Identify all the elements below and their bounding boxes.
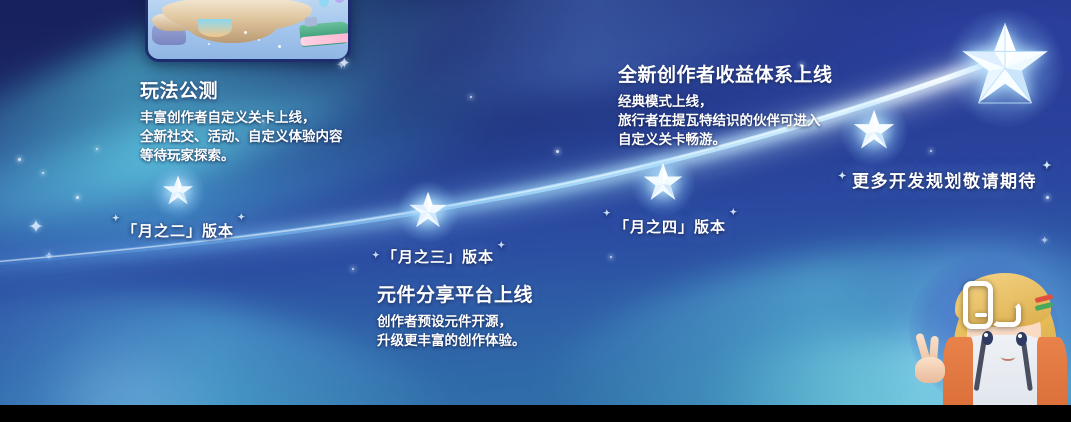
twinkle-dot — [76, 196, 79, 199]
milestone-text-3: 全新创作者收益体系上线 经典模式上线， 旅行者在提瓦特结识的伙伴可进入 自定义关… — [618, 60, 878, 149]
sparkle-tick-icon: ✦ — [1042, 159, 1053, 172]
gameplay-thumbnail-card[interactable]: ★ — [145, 0, 351, 62]
sparkle-tick-icon: ✦ — [603, 208, 612, 219]
version-label-text: 「月之三」版本 — [382, 250, 494, 266]
version-label-text: 「月之四」版本 — [614, 220, 726, 236]
screen-share-icon[interactable] — [963, 281, 1025, 343]
timeline-node-star-2 — [407, 191, 449, 233]
sparkle-dot — [244, 31, 247, 34]
milestone-line: 经典模式上线， — [618, 92, 878, 111]
timeline-node-star-final — [959, 22, 1051, 114]
sparkle-tick-icon: ✦ — [112, 213, 121, 224]
milestone-text-2: 元件分享平台上线 创作者预设元件开源， 升级更丰富的创作体验。 — [377, 280, 657, 350]
twinkle-dot — [610, 256, 612, 258]
sparkle-tick-icon: ✦ — [237, 212, 246, 223]
sparkle-dot — [208, 43, 210, 45]
milestone-line: 丰富创作者自定义关卡上线， — [140, 108, 370, 127]
balloon-shape — [319, 0, 329, 7]
milestone-title-3: 全新创作者收益体系上线 — [618, 60, 878, 87]
milestone-line: 升级更丰富的创作体验。 — [377, 331, 657, 350]
milestone-title-2: 元件分享平台上线 — [377, 280, 657, 307]
version-label-3: ✦ 「月之四」版本 ✦ — [614, 216, 726, 237]
decorative-star-icon: ✦ — [44, 250, 54, 262]
milestone-line: 全新社交、活动、自定义体验内容 — [140, 127, 370, 146]
twinkle-dot — [1046, 196, 1049, 199]
character-portrait — [886, 245, 1071, 405]
twinkle-dot — [18, 158, 21, 161]
palm — [915, 357, 945, 383]
balloon-shape — [334, 0, 345, 3]
twinkle-dot — [470, 96, 472, 98]
version-label-text: 「月之二」版本 — [122, 224, 234, 240]
letterbox-bar — [0, 405, 1071, 422]
decorative-star-icon: ✦ — [338, 56, 351, 71]
timeline-node-star-1 — [161, 175, 195, 209]
twinkle-dot — [930, 150, 932, 152]
twinkle-dot — [352, 268, 354, 270]
twinkle-dot — [556, 150, 559, 153]
floating-island-main — [162, 0, 312, 31]
milestone-line: 等待玩家探索。 — [140, 146, 370, 165]
twinkle-dot — [42, 172, 44, 174]
thumbnail-artwork: ★ — [148, 0, 348, 59]
milestone-line: 自定义关卡畅游。 — [618, 130, 878, 149]
sparkle-tick-icon: ✦ — [372, 250, 381, 261]
sparkle-tick-icon: ✦ — [497, 240, 506, 251]
future-plans-label: ✦ 更多开发规划敬请期待 ✦ — [852, 167, 1037, 192]
milestone-title-1: 玩法公测 — [140, 76, 370, 103]
sparkle-tick-icon: ✦ — [838, 171, 848, 182]
boat-object — [299, 21, 351, 47]
version-label-1: ✦ 「月之二」版本 ✦ — [122, 220, 234, 241]
decorative-star-icon: ✦ — [28, 218, 44, 237]
screen-share-icon-primary — [963, 281, 993, 329]
milestone-line: 创作者预设元件开源， — [377, 312, 657, 331]
screen-share-icon-secondary — [991, 301, 1021, 327]
milestone-text-1: 玩法公测 丰富创作者自定义关卡上线， 全新社交、活动、自定义体验内容 等待玩家探… — [140, 76, 370, 165]
timeline-node-star-3 — [641, 162, 685, 206]
future-plans-text: 更多开发规划敬请期待 — [852, 172, 1037, 191]
version-label-2: ✦ 「月之三」版本 ✦ — [382, 246, 494, 267]
sparkle-dot — [278, 45, 281, 48]
sparkle-tick-icon: ✦ — [729, 207, 738, 218]
sparkle-dot — [258, 39, 260, 41]
character-hand — [913, 333, 951, 383]
character-vest-right — [1037, 337, 1067, 405]
twinkle-dot — [96, 148, 98, 150]
roadmap-screenshot: ✦ ✦ ✦ ✦ — [0, 0, 1071, 422]
character-mouth — [1001, 353, 1015, 361]
bowl-object — [198, 19, 232, 37]
milestone-line: 旅行者在提瓦特结识的伙伴可进入 — [618, 111, 878, 130]
